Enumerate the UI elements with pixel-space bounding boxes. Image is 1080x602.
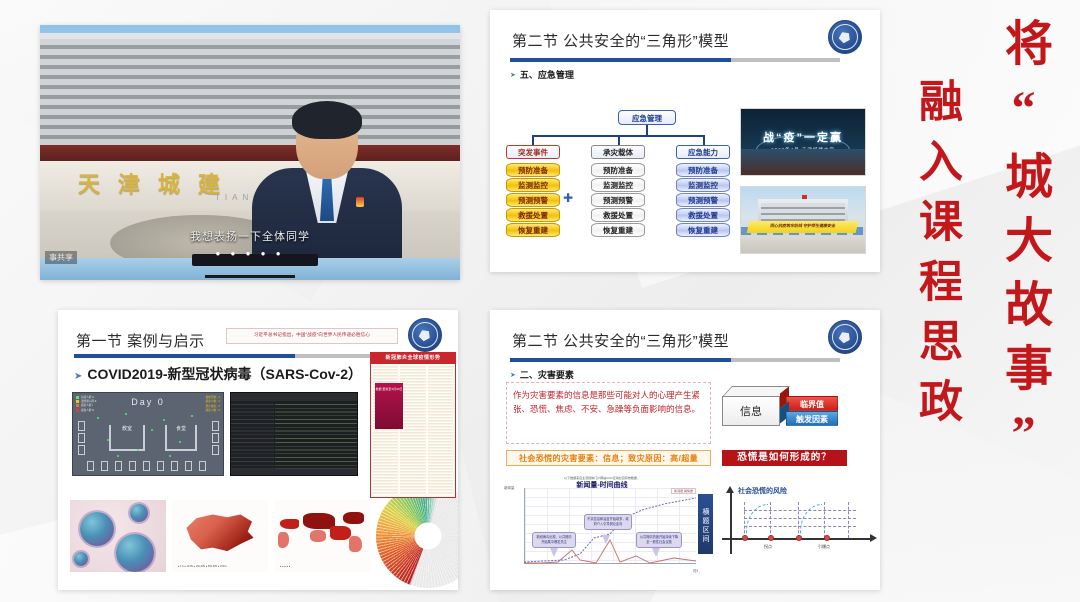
chart-callout: 新冠病毒出现，公共舆情开始集中爆发关注	[532, 532, 576, 548]
cylinder-item: 预防准备	[591, 163, 645, 177]
simulation-room-canteen: 食堂	[165, 425, 197, 451]
x-axis-arrow-icon	[870, 534, 877, 542]
yellow-banner-text: 同心抗疫筑牢防线 守护师生健康安全	[747, 221, 859, 233]
chart-callout: 不实信息和谣言开始增多，政府介入引导舆论走向	[584, 514, 632, 530]
connector-right-drop	[703, 135, 705, 145]
risk-point	[824, 535, 830, 541]
university-seal-icon	[828, 320, 862, 354]
title-rule	[74, 354, 404, 358]
legend-label: 潜伏期人群 E	[81, 400, 96, 403]
plus-icon: ✚	[563, 192, 575, 204]
x-tick-label: 拐点	[764, 544, 772, 550]
banner-title-text: 战“疫”一定赢	[741, 129, 865, 145]
guide-line	[798, 502, 799, 538]
slide-covid-case-study[interactable]: 第一节 案例与启示 习近平总书记指出，中国“战疫”向世界人民传递必胜信心 COV…	[58, 310, 458, 590]
global-epidemic-info-panel: 新冠肺炎全球疫情形势 数据 更新至3月30日	[370, 352, 456, 498]
legend-label: 康复人群 R	[81, 409, 94, 412]
cylinder-item: 预测预警	[506, 193, 560, 207]
guide-line	[824, 502, 825, 538]
covid-heading: COVID2019-新型冠状病毒（SARS-Cov-2）	[74, 364, 362, 384]
panic-risk-chart: 横题区间 社会恐慌的风险 拐点 引爆点	[698, 480, 878, 572]
lecture-video-panel[interactable]: 天津城建 TIANJIN 我想表扬一下全体同学 事共享 ● ● ● ● ●	[40, 25, 460, 280]
risk-point	[742, 535, 748, 541]
stat-line: 康复人数：0	[206, 409, 220, 413]
x-tick-label: 引爆点	[818, 544, 830, 550]
diagram-column-0: 预防准备 监测监控 预测预警 救援处置 恢复重建	[506, 163, 560, 238]
vertical-red-title: 将“城大故事” 融入课程思政	[900, 0, 1080, 602]
cylinder-item: 救援处置	[676, 208, 730, 222]
simulation-stats: 模拟天数：0 感染人数：0 累计感染：0 康复人数：0	[206, 396, 220, 414]
callout-tail	[652, 548, 660, 557]
hazard-summary-bar: 社会恐慌的灾害要素：信息；致灾原因：高/超量	[506, 450, 711, 466]
cylinder-item: 预防准备	[506, 163, 560, 177]
title-rule	[510, 358, 840, 362]
night-banner-photo: 战“疫”一定赢 2022年4月 天津城建大学	[740, 108, 866, 176]
video-progress-bar[interactable]	[205, 275, 295, 278]
info-panel-badge: 数据 更新至3月30日	[375, 383, 403, 429]
video-pagination-dots[interactable]: ● ● ● ● ●	[40, 249, 460, 258]
slide-title: 第一节 案例与启示	[76, 330, 205, 351]
campus-ground	[741, 236, 865, 253]
map-legend: ● ● ● ● ●	[280, 565, 290, 568]
diagram-head-box: 应急管理	[618, 110, 676, 125]
diagram-col-header-0: 突发事件	[506, 145, 560, 159]
diagram-col-header-1: 承灾载体	[591, 145, 645, 159]
information-cube-diagram: 信息 临界值 触发因素	[722, 386, 847, 432]
guide-line	[848, 502, 849, 538]
chart-title: 社会恐慌的风险	[738, 486, 787, 496]
presenter-hair	[292, 101, 362, 139]
cube-front-label: 信息	[722, 396, 780, 426]
world-map-chart: ● ● ● ● ●	[274, 500, 370, 572]
editor-statusbar	[231, 469, 357, 475]
cylinder-item: 预防准备	[676, 163, 730, 177]
cylinder-item: 恢复重建	[591, 223, 645, 237]
cylinder-item: 恢复重建	[676, 223, 730, 237]
trigger-factor-block: 触发因素	[786, 411, 838, 426]
panic-question-bar: 恐慌是如何形成的？	[722, 450, 847, 466]
chart-vertical-label: 横题区间	[698, 494, 713, 554]
news-time-curve-chart: 以下数据来自主流媒体门户网站UGC互动栏目有效数据， 新闻量-时间曲线 新闻量 …	[502, 474, 702, 578]
slide-subtitle: 五、应急管理	[510, 68, 574, 81]
vertical-title-line-2: 融入课程思政	[904, 78, 968, 438]
callout-tail	[550, 548, 558, 557]
slide-subtitle: 二、灾害要素	[510, 368, 574, 381]
callout-tail	[602, 535, 610, 544]
map-legend: ● 1-9 ● 10-99 ● 100-499 ● 500-999 ● 1000…	[178, 565, 227, 568]
cylinder-item: 预测预警	[591, 193, 645, 207]
vertical-title-line-1: 将“城大故事”	[988, 18, 1058, 476]
cylinder-item: 监测监控	[591, 178, 645, 192]
presenter-lapel-pin	[356, 197, 364, 207]
banner-skyline	[741, 149, 865, 175]
campus-name-text: 天津城建	[78, 167, 238, 199]
editor-code-area	[275, 401, 357, 469]
risk-point	[796, 535, 802, 541]
connector-mid-drop	[618, 135, 620, 145]
chart-callout: 公共舆情热度开始持续下降至一般性社会议题	[636, 532, 682, 548]
cylinder-item: 预测预警	[676, 193, 730, 207]
video-subtitle: 我想表扬一下全体同学	[40, 228, 460, 244]
epidemic-simulation-window: Day 0 易感人群 S 潜伏期人群 E 感染人群 I 康复人群 R 模拟天数：…	[72, 392, 224, 476]
simulation-room-classroom: 教室	[109, 425, 145, 451]
editor-titlebar	[231, 393, 357, 401]
chart-ylabel: 新闻量	[504, 486, 515, 491]
china-map-chart: ● 1-9 ● 10-99 ● 100-499 ● 500-999 ● 1000…	[172, 500, 268, 572]
cylinder-item: 恢复重建	[506, 223, 560, 237]
critical-value-block: 临界值	[786, 396, 838, 411]
coronavirus-photo	[70, 500, 166, 572]
risk-point	[768, 535, 774, 541]
guide-line	[744, 502, 745, 538]
xi-quote-note: 习近平总书记指出，中国“战疫”向世界人民传递必胜信心	[226, 328, 398, 344]
title-rule	[510, 58, 840, 62]
diagram-column-1: 预防准备 监测监控 预测预警 救援处置 恢复重建	[591, 163, 645, 238]
cylinder-item: 救援处置	[591, 208, 645, 222]
legend-label: 易感人群 S	[81, 396, 94, 399]
cylinder-item: 救援处置	[506, 208, 560, 222]
slide-hazard-factors[interactable]: 第二节 公共安全的“三角形”模型 二、灾害要素 作为灾害要素的信息是那些可能对人…	[490, 310, 880, 590]
connector-left-drop	[532, 135, 534, 145]
diagram-column-2: 预防准备 监测监控 预测预警 救援处置 恢复重建	[676, 163, 730, 238]
slide-title: 第二节 公共安全的“三角形”模型	[512, 330, 729, 351]
university-seal-icon	[408, 318, 442, 352]
cylinder-item: 监测监控	[506, 178, 560, 192]
slide-title: 第二节 公共安全的“三角形”模型	[512, 30, 729, 51]
legend-label: 感染人群 I	[81, 405, 93, 408]
china-map-shape	[184, 510, 257, 555]
hazard-note-text: 作为灾害要素的信息是那些可能对人的心理产生紧张、恐慌、焦虑、不安、急躁等负面影响…	[506, 382, 711, 444]
radial-fan-chart	[376, 484, 458, 588]
simulation-legend: 易感人群 S 潜伏期人群 E 感染人群 I 康复人群 R	[76, 396, 96, 413]
guide-line	[770, 502, 771, 538]
university-seal-icon	[828, 20, 862, 54]
fan-center-hole	[414, 522, 441, 549]
info-panel-heading: 新冠肺炎全球疫情形势	[371, 353, 455, 364]
y-axis-line	[730, 492, 732, 554]
editor-file-tree	[231, 401, 274, 469]
diagram-col-header-2: 应急能力	[676, 145, 730, 159]
cylinder-item: 监测监控	[676, 178, 730, 192]
campus-banner-photo: 同心抗疫筑牢防线 守护师生健康安全	[740, 186, 866, 254]
slide-emergency-management[interactable]: 第二节 公共安全的“三角形”模型 五、应急管理 应急管理 突发事件 预防准备 监…	[490, 10, 880, 272]
code-editor-window	[230, 392, 358, 476]
